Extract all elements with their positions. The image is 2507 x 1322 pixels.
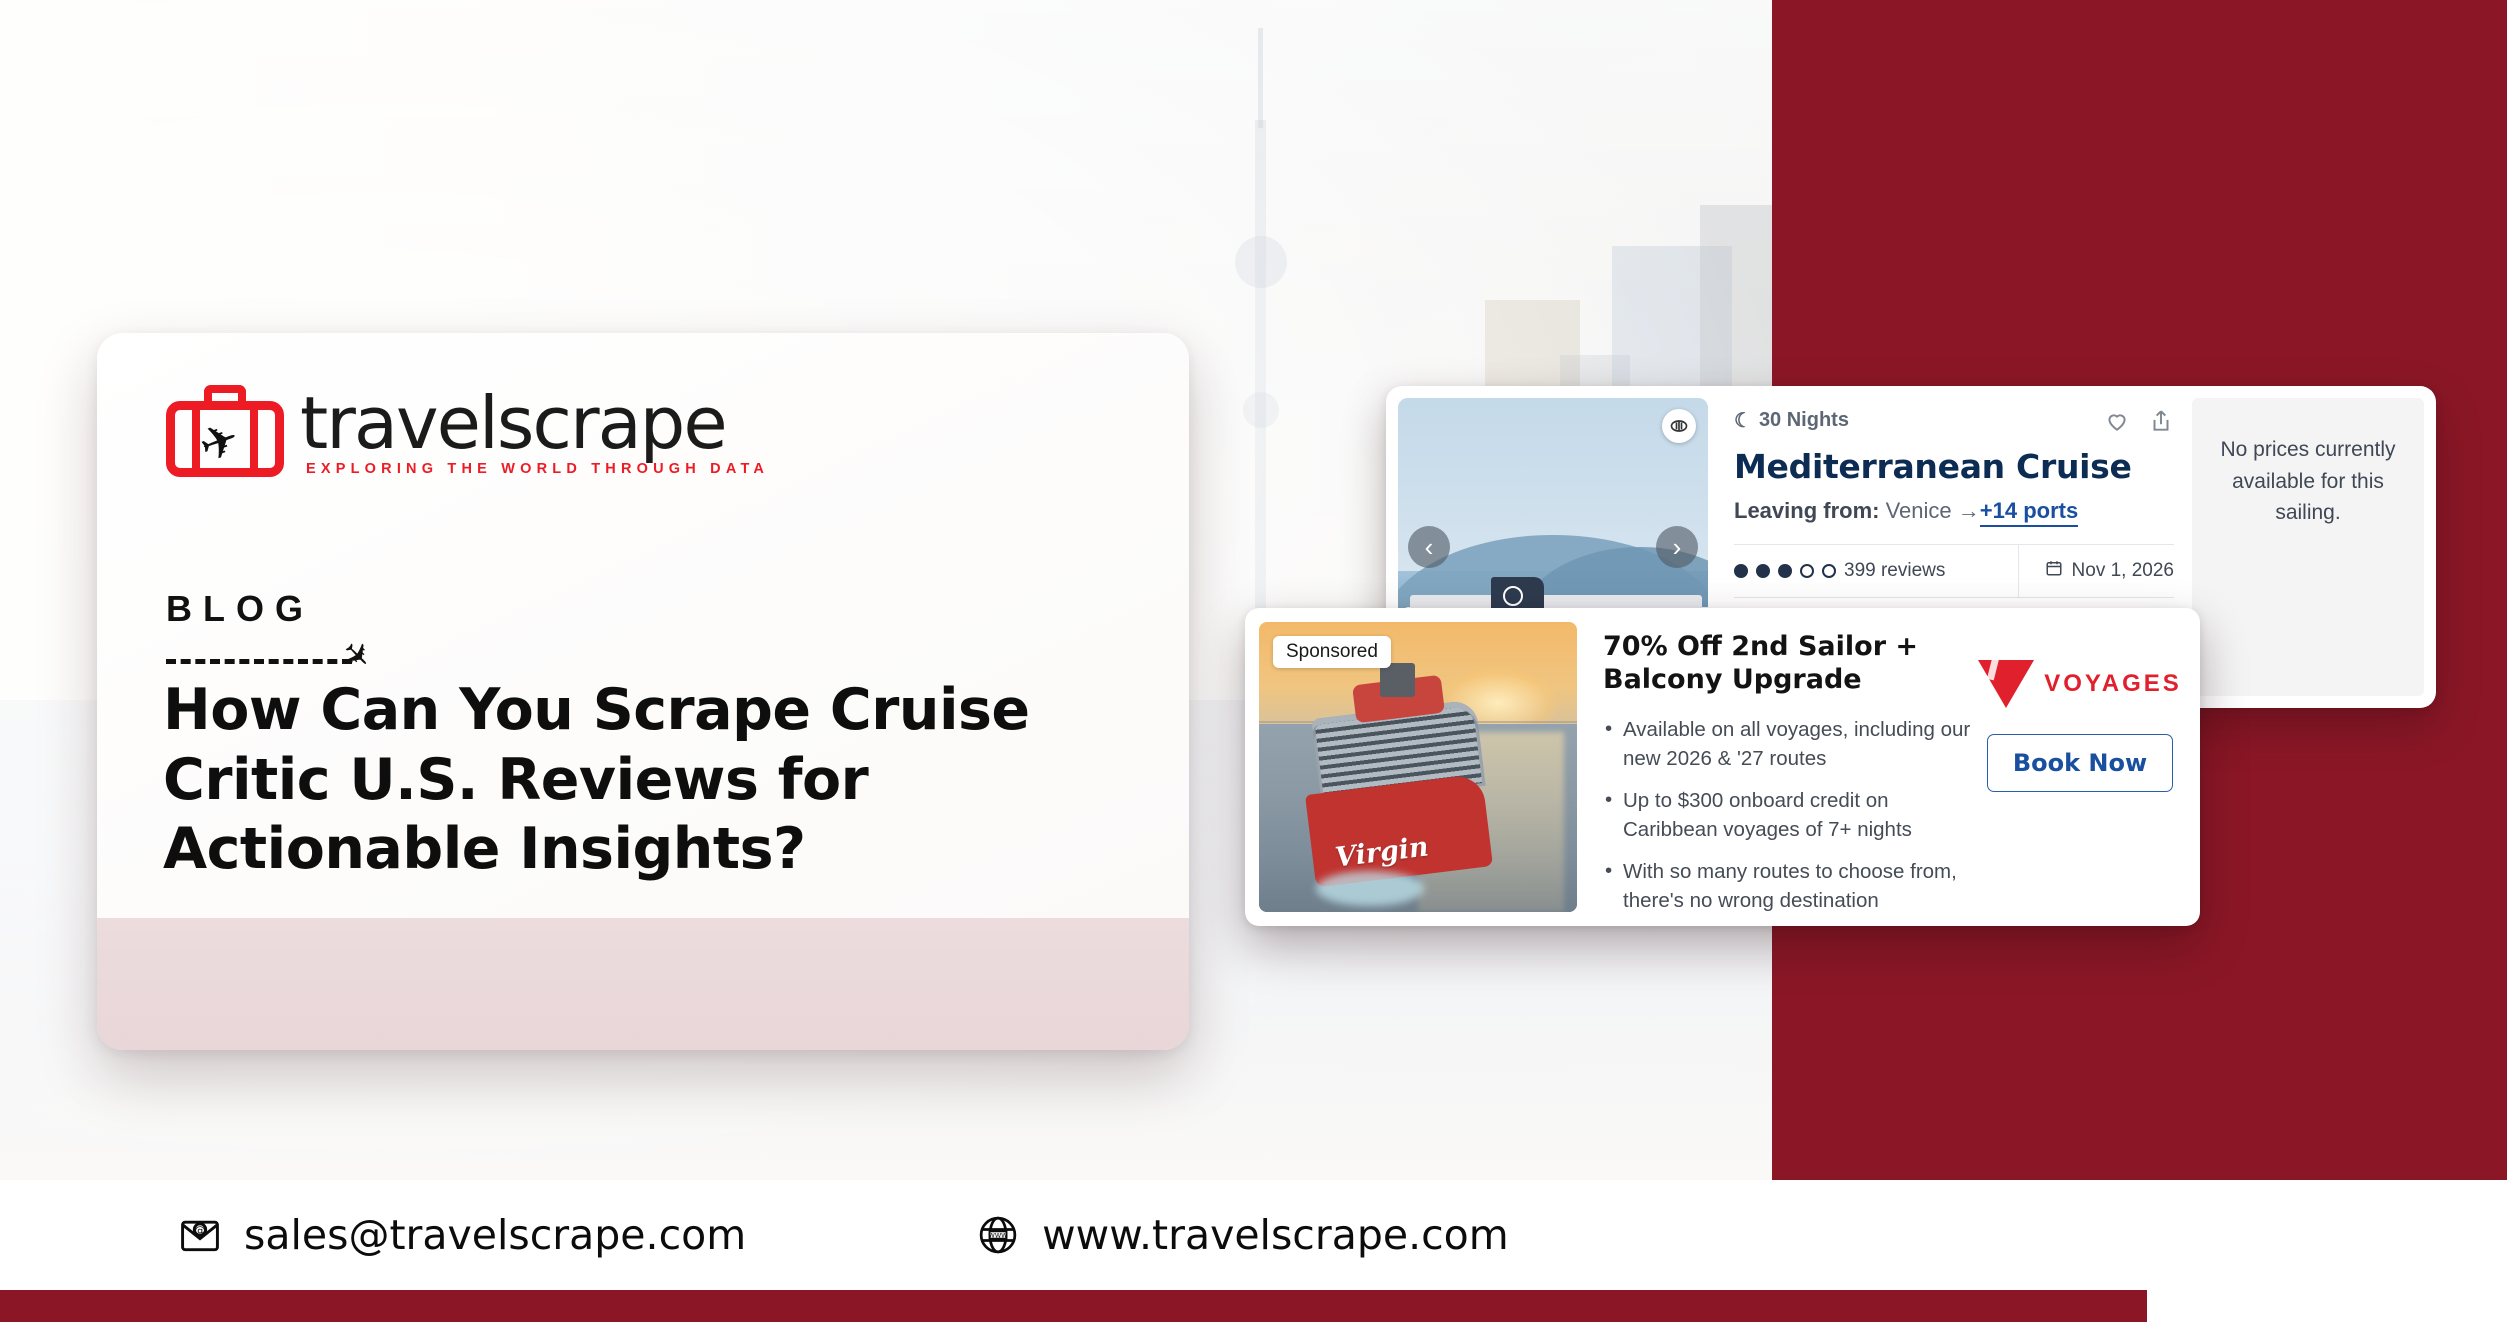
virgin-triangle-mark xyxy=(1978,660,2034,708)
blog-card-pink-area xyxy=(97,918,1189,1050)
sponsored-benefits-list: Available on all voyages, including our … xyxy=(1603,715,1978,916)
footer-email[interactable]: @ sales@travelscrape.com xyxy=(178,1211,746,1259)
360-rotate-icon[interactable] xyxy=(1662,409,1696,443)
brand-wordmark: travelscrape EXPLORING THE WORLD THROUGH… xyxy=(300,387,769,477)
envelope-at-icon: @ xyxy=(178,1213,222,1257)
svg-text:@: @ xyxy=(195,1224,206,1237)
photo-ship-emblem xyxy=(1503,586,1523,606)
heart-icon[interactable] xyxy=(2104,408,2130,439)
list-item: With so many routes to choose from, ther… xyxy=(1623,857,1978,915)
rating-dot-3 xyxy=(1778,564,1792,578)
departure-port: Venice xyxy=(1886,498,1952,523)
list-item: Up to $300 onboard credit on Caribbean v… xyxy=(1623,786,1978,844)
cruise-meta-row: 399 reviews Nov 1, 2026 xyxy=(1734,545,2174,597)
advertiser-name: VOYAGES xyxy=(2044,670,2182,698)
dashed-flight-path-airplane-icon: ✈ xyxy=(166,648,378,674)
cruise-actions xyxy=(2104,408,2174,439)
more-ports-link[interactable]: +14 ports xyxy=(1980,498,2078,527)
footer-email-text: sales@travelscrape.com xyxy=(244,1211,746,1259)
suitcase-airplane-icon: ✈ xyxy=(166,385,284,477)
rating-dot-2 xyxy=(1756,564,1770,578)
moon-icon: ☾ xyxy=(1734,408,1752,433)
footer-rounded-corner xyxy=(2147,1180,2507,1322)
sponsored-ship-photo[interactable]: Virgin Sponsored xyxy=(1259,622,1577,912)
sponsored-advertiser-block: VOYAGES Book Now xyxy=(1984,608,2200,926)
footer-contacts: @ sales@travelscrape.com WWW www.travels… xyxy=(0,1180,2200,1290)
footer-website-text: www.travelscrape.com xyxy=(1042,1211,1509,1259)
cruise-nights: ☾ 30 Nights xyxy=(1734,408,1849,433)
globe-www-icon: WWW xyxy=(976,1213,1020,1257)
cruise-departure: Leaving from: Venice →+14 ports xyxy=(1734,498,2174,524)
virgin-voyages-logo: VOYAGES xyxy=(1978,660,2182,708)
footer-website[interactable]: WWW www.travelscrape.com xyxy=(976,1211,1509,1259)
blog-eyebrow: BLOG xyxy=(166,588,314,630)
leaving-from-label: Leaving from: xyxy=(1734,498,1879,523)
page-title: How Can You Scrape Cruise Critic U.S. Re… xyxy=(163,676,1168,885)
cruise-nights-label: 30 Nights xyxy=(1759,409,1849,432)
svg-text:WWW: WWW xyxy=(989,1232,1009,1240)
sponsored-ad-card[interactable]: Virgin Sponsored 70% Off 2nd Sailor + Ba… xyxy=(1245,608,2200,926)
book-now-button[interactable]: Book Now xyxy=(1987,734,2173,792)
cruise-title[interactable]: Mediterranean Cruise xyxy=(1734,447,2174,486)
reviews-count: 399 reviews xyxy=(1844,560,1945,582)
poster-stage: ✈ travelscrape EXPLORING THE WORLD THROU… xyxy=(0,0,2507,1322)
sponsored-content: 70% Off 2nd Sailor + Balcony Upgrade Ava… xyxy=(1577,608,1984,926)
calendar-icon xyxy=(2045,559,2063,583)
brand-logo: ✈ travelscrape EXPLORING THE WORLD THROU… xyxy=(166,385,769,477)
price-notice-text: No prices currently available for this s… xyxy=(2218,434,2398,529)
dashed-line xyxy=(166,659,352,664)
list-item: Available on all voyages, including our … xyxy=(1623,715,1978,773)
cruise-date-label: Nov 1, 2026 xyxy=(2072,560,2174,582)
divider-2 xyxy=(1734,597,2174,598)
price-notice-panel: No prices currently available for this s… xyxy=(2192,398,2424,696)
share-icon[interactable] xyxy=(2148,408,2174,439)
chevron-left-icon[interactable]: ‹ xyxy=(1408,526,1450,568)
sponsored-badge: Sponsored xyxy=(1273,636,1391,668)
brand-name: travelscrape xyxy=(300,387,769,459)
rating-dot-4 xyxy=(1800,564,1814,578)
cruise-date: Nov 1, 2026 xyxy=(2018,545,2174,597)
sponsored-title: 70% Off 2nd Sailor + Balcony Upgrade xyxy=(1603,630,1978,697)
rating-dot-1 xyxy=(1734,564,1748,578)
cruise-top-line: ☾ 30 Nights xyxy=(1734,408,2174,439)
cruise-rating[interactable]: 399 reviews xyxy=(1734,545,2018,597)
rating-dot-5 xyxy=(1822,564,1836,578)
suitcase-strap-right xyxy=(250,401,258,477)
brand-tagline: EXPLORING THE WORLD THROUGH DATA xyxy=(306,461,769,477)
arrow-glyph: → xyxy=(1958,498,1980,523)
chevron-right-icon[interactable]: › xyxy=(1656,526,1698,568)
